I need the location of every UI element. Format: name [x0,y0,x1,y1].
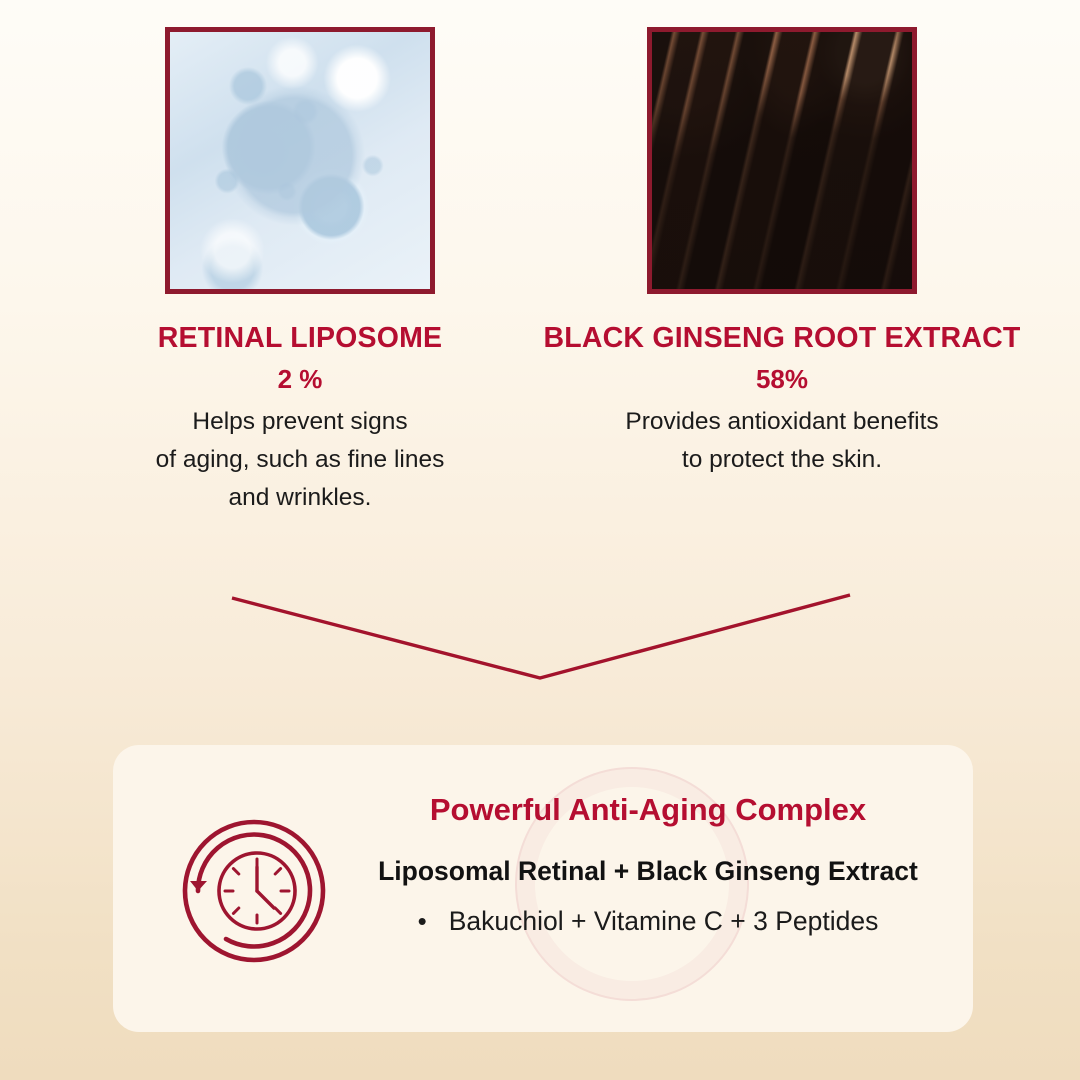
ingredient-card-retinal-liposome: RETINAL LIPOSOME 2 % Helps prevent signs… [100,27,500,516]
complex-subtitle: Liposomal Retinal + Black Ginseng Extrac… [338,856,958,888]
black-ginseng-roots-photo [652,32,912,289]
ingredient-photo-frame [647,27,917,294]
ingredient-description: Provides antioxidant benefits to protect… [518,403,1046,478]
complex-bullet-text: Bakuchiol + Vitamine C + 3 Peptides [449,906,879,938]
anti-aging-complex-card: Powerful Anti-Aging Complex Liposomal Re… [113,745,973,1032]
ingredient-percentage: 2 % [100,366,500,393]
connector-graphic [0,560,1080,710]
bullet-marker-icon: • [418,908,427,934]
ingredient-photo-frame [165,27,435,294]
ingredient-description: Helps prevent signs of aging, such as fi… [100,403,500,516]
infographic-canvas: RETINAL LIPOSOME 2 % Helps prevent signs… [0,0,1080,1080]
ingredient-percentage: 58% [518,366,1046,393]
liposome-bubbles-photo [170,32,430,289]
complex-bullet-item: • Bakuchiol + Vitamine C + 3 Peptides [338,906,958,938]
complex-card-body: Powerful Anti-Aging Complex Liposomal Re… [338,791,958,938]
ingredient-name: RETINAL LIPOSOME [100,324,500,354]
turn-back-time-clock-icon [174,811,334,971]
ingredient-card-black-ginseng: BLACK GINSENG ROOT EXTRACT 58% Provides … [518,27,1046,479]
ingredient-name: BLACK GINSENG ROOT EXTRACT [518,324,1046,354]
complex-title: Powerful Anti-Aging Complex [338,791,958,828]
chevron-down-icon [0,560,1080,710]
ingredients-section: RETINAL LIPOSOME 2 % Helps prevent signs… [0,0,1080,520]
